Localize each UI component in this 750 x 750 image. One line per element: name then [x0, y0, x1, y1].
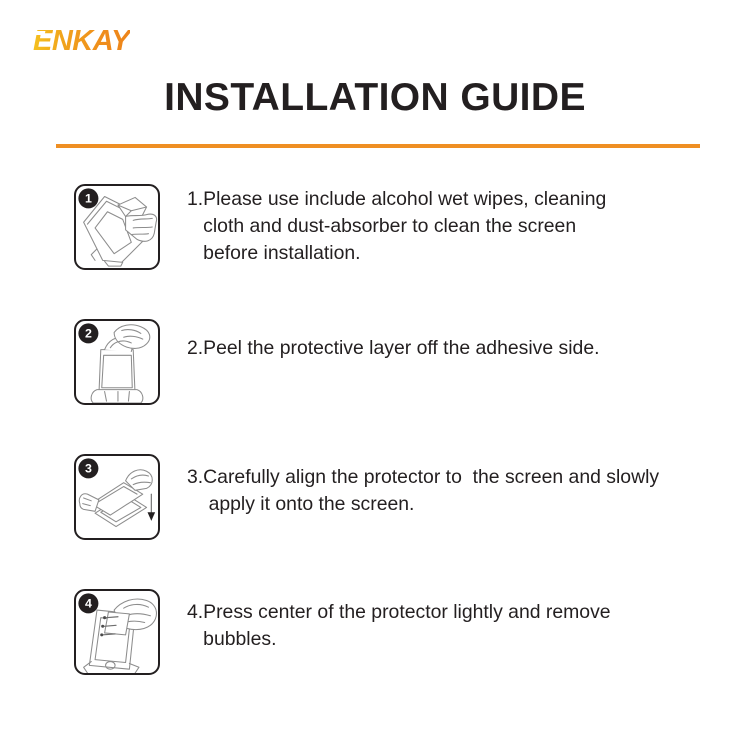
step-1-badge-number: 1	[85, 192, 92, 206]
brand-logo-text: ENKAY	[33, 25, 130, 57]
brand-logo-notch	[36, 31, 46, 35]
page-title: INSTALLATION GUIDE	[0, 74, 750, 122]
step-item-1: 1 1.Please use include alcohol wet wipes…	[0, 182, 750, 317]
header-divider	[56, 144, 700, 148]
steps-list: 1 1.Please use include alcohol wet wipes…	[0, 182, 750, 722]
step-3-badge-number: 3	[85, 462, 92, 476]
step-4-illustration: 4	[74, 589, 160, 675]
step-2-text: 2.Peel the protective layer off the adhe…	[187, 335, 697, 362]
step-4-badge-number: 4	[85, 597, 92, 611]
step-2-illustration: 2	[74, 319, 160, 405]
step-1-text: 1.Please use include alcohol wet wipes, …	[187, 186, 697, 267]
step-2-badge-number: 2	[85, 327, 92, 341]
step-item-4: 4 4.Press center of the protector lightl…	[0, 587, 750, 722]
phone-wipe-cloth-icon: 1	[76, 186, 158, 268]
step-1-illustration: 1	[74, 184, 160, 270]
press-center-bubbles-icon: 4	[76, 591, 158, 673]
step-4-text: 4.Press center of the protector lightly …	[187, 599, 707, 653]
step-item-2: 2 2.Peel the protective layer off the ad…	[0, 317, 750, 452]
step-item-3: 3 3.Carefully align the protector to the…	[0, 452, 750, 587]
brand-logo: ENKAY	[33, 25, 153, 57]
step-3-text: 3.Carefully align the protector to the s…	[187, 464, 707, 518]
step-3-illustration: 3	[74, 454, 160, 540]
arrow-down-icon	[148, 494, 156, 521]
align-protector-icon: 3	[76, 456, 158, 538]
peel-protective-layer-icon: 2	[76, 321, 158, 403]
